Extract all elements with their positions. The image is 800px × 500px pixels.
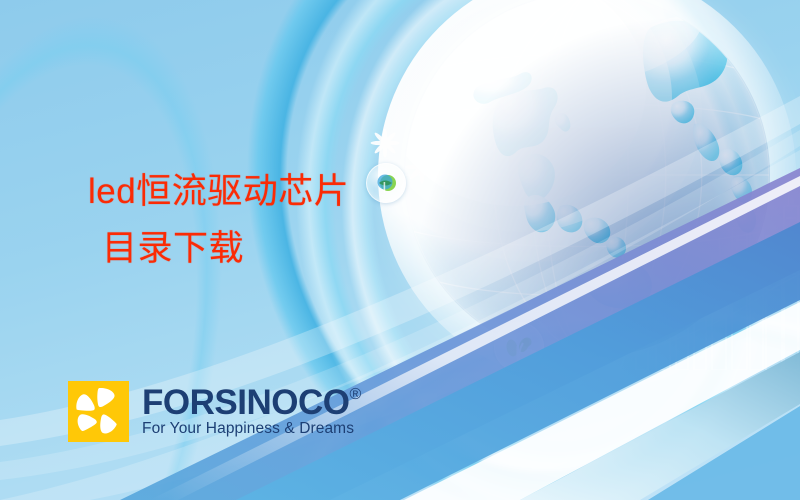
brand-name: FORSINOCO ® bbox=[142, 385, 361, 420]
brand-tagline: For Your Happiness & Dreams bbox=[142, 420, 354, 437]
four-petal-flower-icon bbox=[68, 381, 129, 442]
bubble-with-leaf-icon bbox=[494, 322, 544, 372]
sparkle-star-icon bbox=[370, 128, 400, 163]
page-title: led恒流驱动芯片 目录下载 bbox=[88, 164, 349, 277]
registered-trademark-symbol: ® bbox=[349, 387, 360, 403]
sparkle-star-icon bbox=[405, 150, 439, 189]
promo-banner: led恒流驱动芯片 目录下载 FORSINOCO ® For Your Happ… bbox=[0, 0, 800, 500]
headline-line-2: 目录下载 bbox=[88, 221, 349, 278]
brand-logo: FORSINOCO ® For Your Happiness & Dreams bbox=[68, 381, 361, 442]
earth-globe-icon bbox=[404, 0, 770, 358]
headline-line-1: led恒流驱动芯片 bbox=[88, 172, 349, 211]
bubble-with-globe-icon bbox=[366, 163, 406, 203]
